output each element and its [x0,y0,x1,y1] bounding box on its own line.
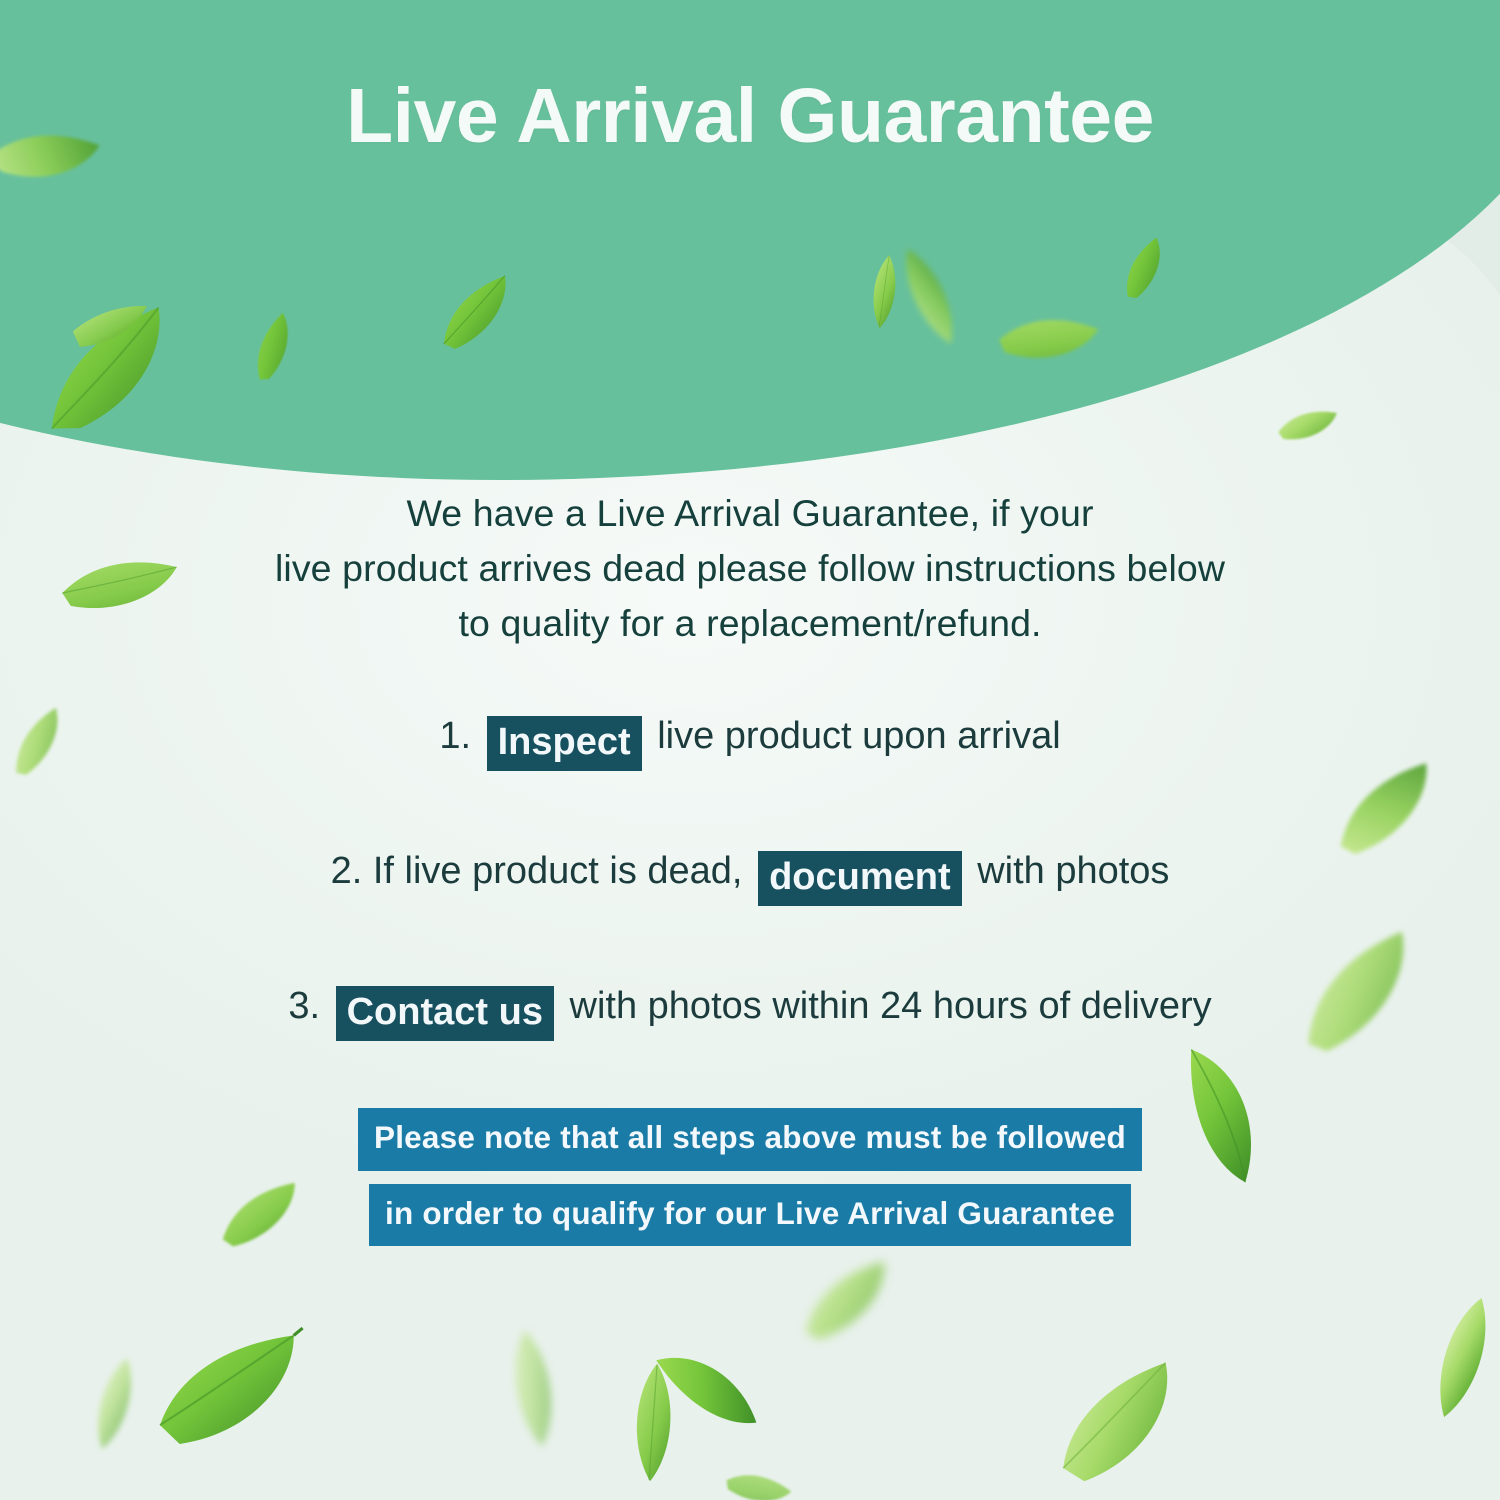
note-line-1: Please note that all steps above must be… [358,1108,1142,1171]
step-2-before: If live product is dead, [373,850,743,892]
note-line-2: in order to qualify for our Live Arrival… [369,1184,1131,1247]
step-2-highlight[interactable]: document [758,851,962,906]
step-3-highlight[interactable]: Contact us [336,986,554,1041]
step-3-after: with photos within 24 hours of delivery [570,985,1212,1027]
intro-line-1: We have a Live Arrival Guarantee, if you… [0,486,1500,541]
step-1-number: 1. [439,715,471,757]
guarantee-graphic: Live Arrival Guarantee We have a Live Ar… [0,0,1500,1500]
page-title: Live Arrival Guarantee [0,78,1500,155]
intro-line-3: to quality for a replacement/refund. [0,596,1500,651]
note-row-1: Please note that all steps above must be… [0,1108,1500,1171]
steps-list: 1. Inspect live product upon arrival 2. … [0,710,1500,1035]
step-2-after: with photos [977,850,1169,892]
step-item-1: 1. Inspect live product upon arrival [0,710,1500,765]
step-1-after: live product upon arrival [657,715,1060,757]
step-item-2: 2. If live product is dead, document wit… [0,845,1500,900]
step-2-number: 2. [331,850,363,892]
note-row-2: in order to qualify for our Live Arrival… [0,1184,1500,1247]
intro-line-2: live product arrives dead please follow … [0,541,1500,596]
step-1-highlight[interactable]: Inspect [487,716,642,771]
intro-paragraph: We have a Live Arrival Guarantee, if you… [0,486,1500,651]
note-banner: Please note that all steps above must be… [0,1108,1500,1246]
step-3-number: 3. [288,985,320,1027]
step-item-3: 3. Contact us with photos within 24 hour… [0,980,1500,1035]
